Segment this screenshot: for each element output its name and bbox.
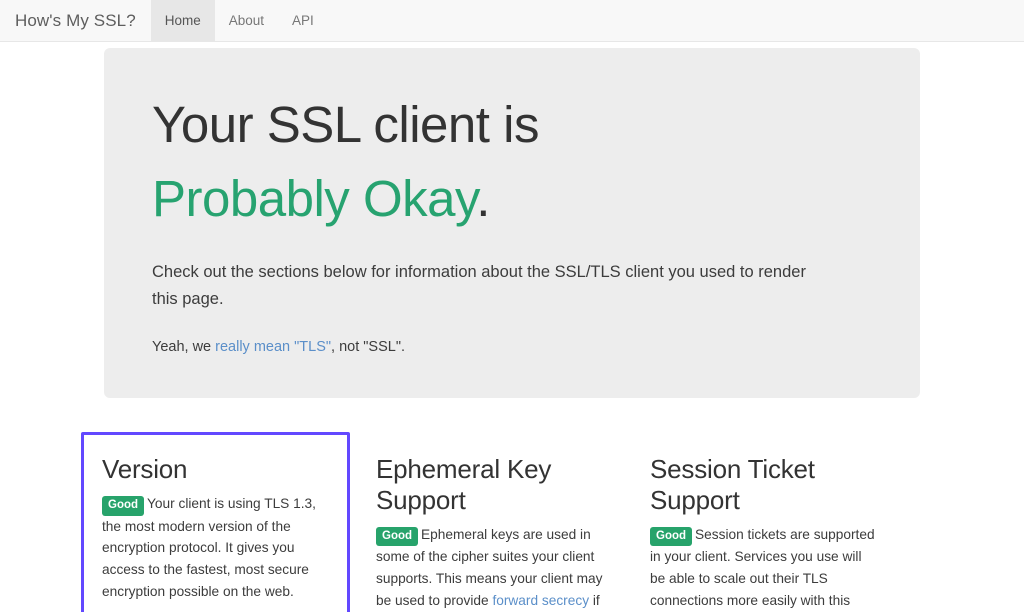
card-session-title: Session Ticket Support — [650, 454, 877, 515]
status-badge-good: Good — [102, 496, 144, 516]
nav-item-about[interactable]: About — [215, 0, 278, 41]
card-ephemeral-body: GoodEphemeral keys are used in some of t… — [376, 524, 603, 612]
hero-note-prefix: Yeah, we — [152, 339, 215, 355]
nav-item-home-wrap: Home — [151, 0, 215, 41]
hero-heading-line2: Probably Okay. — [152, 170, 872, 227]
brand-link[interactable]: How's My SSL? — [0, 0, 151, 41]
really-mean-tls-link[interactable]: really mean "TLS" — [215, 339, 331, 355]
feature-cards: Version GoodYour client is using TLS 1.3… — [0, 432, 1024, 612]
hero-note-suffix: , not "SSL". — [331, 339, 405, 355]
forward-secrecy-link[interactable]: forward secrecy — [492, 593, 589, 608]
nav-item-api[interactable]: API — [278, 0, 328, 41]
nav-links: Home About API — [151, 0, 328, 41]
page-root: How's My SSL? Home About API Your SSL cl… — [0, 0, 1024, 612]
nav-item-about-wrap: About — [215, 0, 278, 41]
card-ephemeral-title: Ephemeral Key Support — [376, 454, 603, 515]
status-badge-good: Good — [650, 527, 692, 547]
card-version-body: GoodYour client is using TLS 1.3, the mo… — [102, 493, 329, 602]
card-version-title: Version — [102, 454, 329, 485]
card-session-ticket-support[interactable]: Session Ticket Support GoodSession ticke… — [629, 432, 898, 612]
card-ephemeral-key-support[interactable]: Ephemeral Key Support GoodEphemeral keys… — [355, 432, 624, 612]
hero-status-period: . — [476, 170, 490, 227]
hero-heading: Your SSL client is Probably Okay. — [152, 96, 872, 227]
nav-item-api-wrap: API — [278, 0, 328, 41]
hero-status-text: Probably Okay — [152, 170, 476, 227]
hero-heading-prefix: Your SSL client is — [152, 96, 539, 153]
status-badge-good: Good — [376, 527, 418, 547]
card-version[interactable]: Version GoodYour client is using TLS 1.3… — [81, 432, 350, 612]
hero-note: Yeah, we really mean "TLS", not "SSL". — [152, 337, 832, 359]
card-session-body: GoodSession tickets are supported in you… — [650, 524, 877, 612]
hero-description: Check out the sections below for informa… — [152, 259, 832, 312]
nav-item-home[interactable]: Home — [151, 0, 215, 41]
top-navbar: How's My SSL? Home About API — [0, 0, 1024, 42]
hero-panel: Your SSL client is Probably Okay. Check … — [104, 48, 920, 398]
